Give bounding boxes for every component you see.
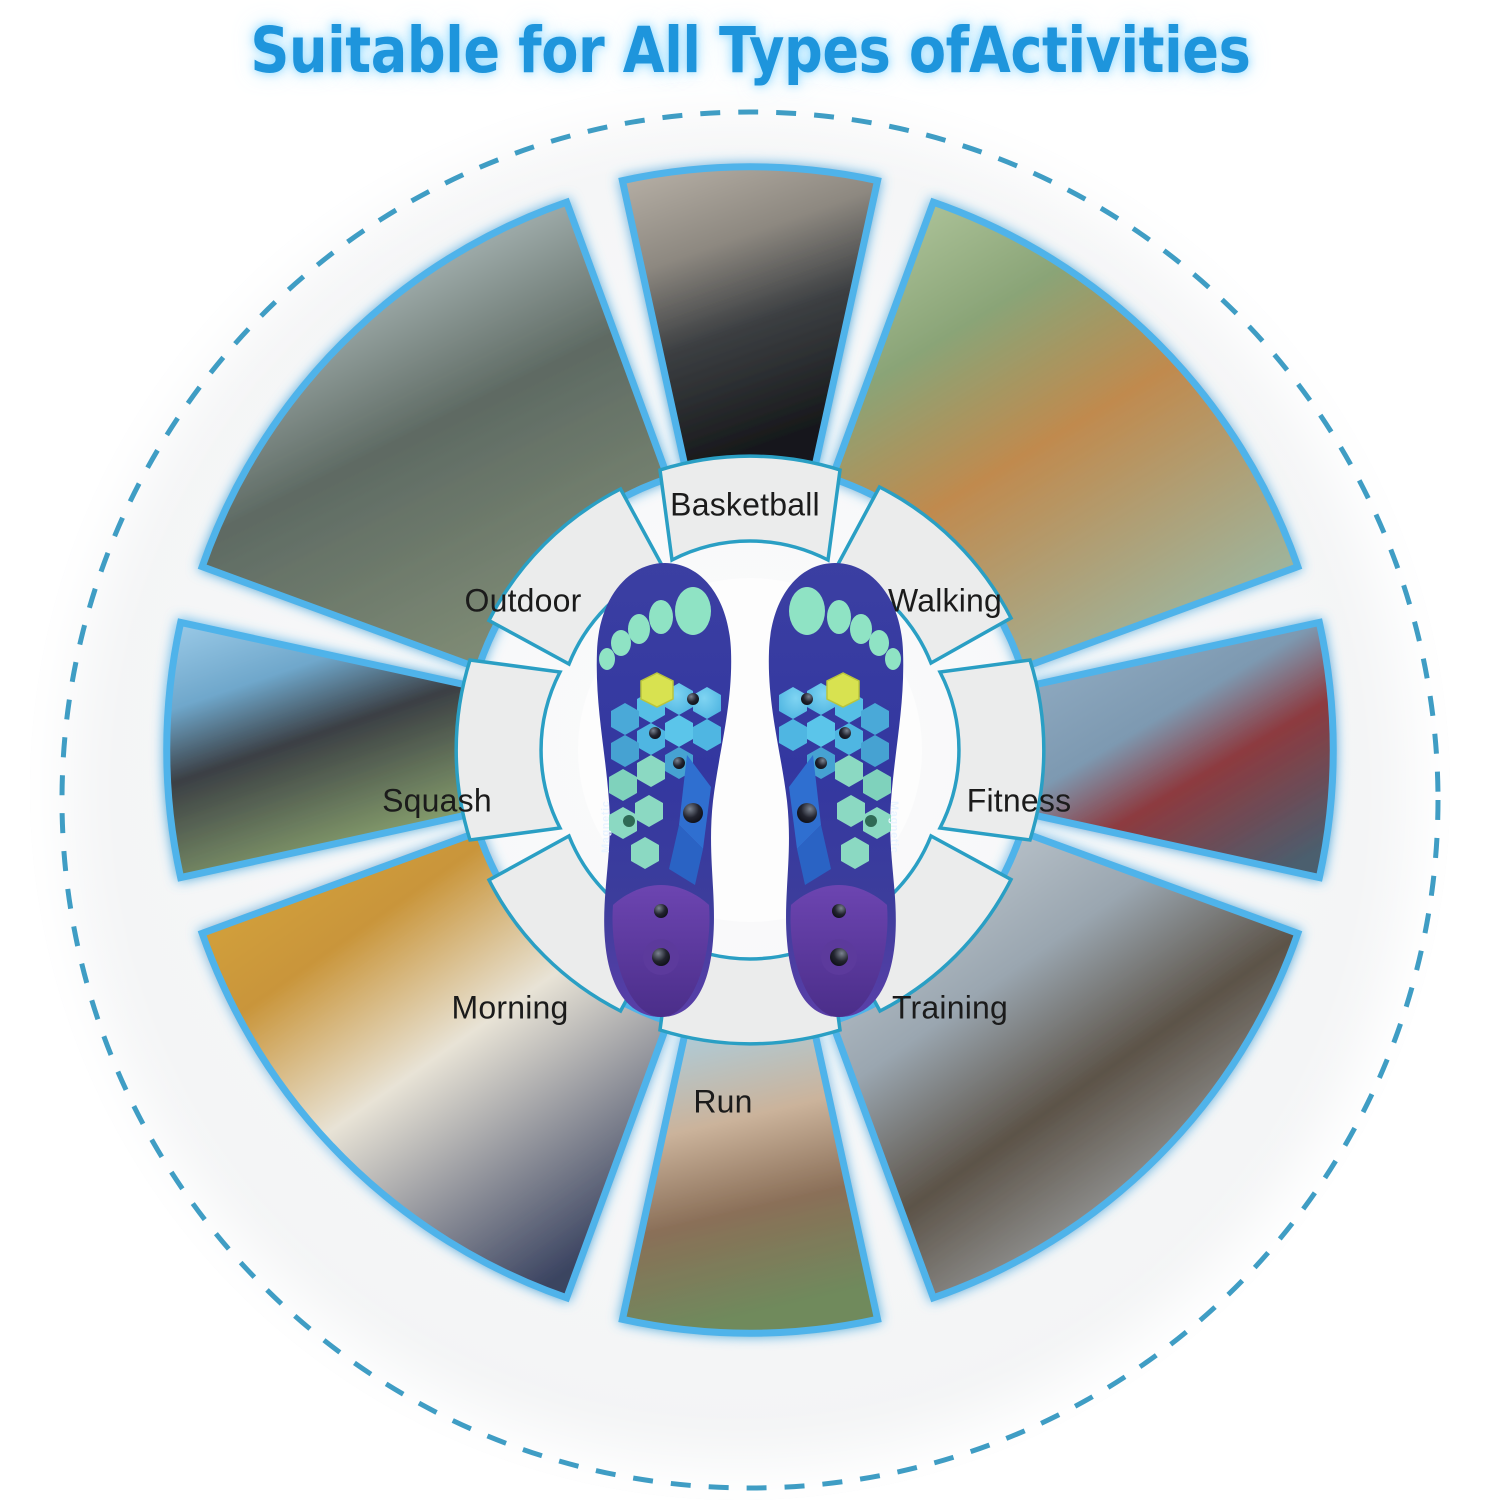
segment-label-run[interactable]: Run [693,1084,752,1121]
outer-segment-squash [167,622,467,877]
insole-right: Magnetic [769,563,903,1017]
page-title: Suitable for All Types ofActivities [250,14,1250,87]
infographic-canvas: Suitable for All Types ofActivities [0,0,1500,1500]
insole-right-magnetic-text: Magnetic [888,801,900,853]
segment-label-outdoor[interactable]: Outdoor [464,583,581,620]
outer-segment-fitness [1033,622,1333,877]
segment-label-fitness[interactable]: Fitness [967,783,1072,820]
outer-segment-run [622,1033,877,1333]
segment-label-morning[interactable]: Morning [451,990,568,1027]
segment-label-basketball[interactable]: Basketball [670,487,820,524]
outer-segment-basketball [622,167,877,467]
page-title-container: Suitable for All Types ofActivities [0,14,1500,87]
magnetic-insoles-product: Magnetic [583,555,917,1025]
insole-left-magnetic-text: Magnetic [600,801,612,853]
insole-left: Magnetic [597,563,731,1017]
segment-label-squash[interactable]: Squash [382,783,492,820]
